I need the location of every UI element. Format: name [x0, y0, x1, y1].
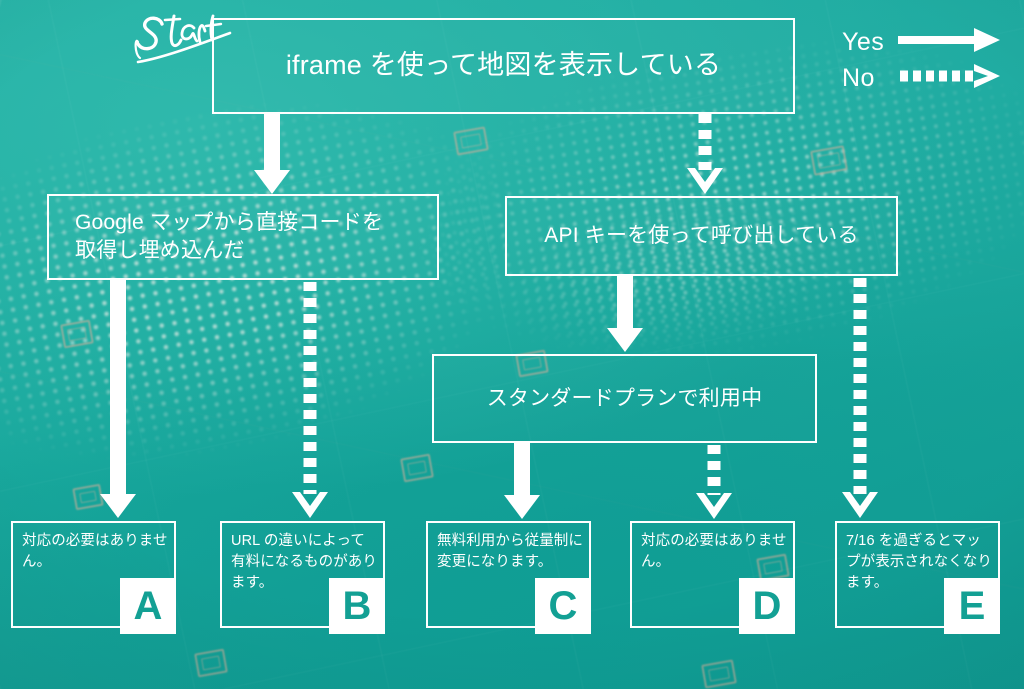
answer-badge-a: A — [120, 578, 176, 634]
legend: Yes No — [842, 24, 1014, 96]
node-start-question[interactable]: iframe を使って地図を表示している — [212, 18, 795, 114]
answer-box-d[interactable]: 対応の必要はありません。 D — [630, 521, 795, 628]
answer-badge-e: E — [944, 578, 1000, 634]
answer-box-b[interactable]: URL の違いによって有料になるものがあります。 B — [220, 521, 385, 628]
legend-row-yes: Yes — [842, 24, 1014, 60]
dashed-arrow-right-icon — [896, 61, 1006, 96]
background-chip — [701, 659, 737, 688]
node-google-embed-label-line2: 取得し埋め込んだ — [75, 239, 245, 262]
answer-badge-d: D — [739, 578, 795, 634]
edge-standard-to-c-yes — [500, 443, 544, 523]
legend-row-no: No — [842, 60, 1014, 96]
solid-arrow-right-icon — [896, 25, 1006, 60]
background-chip — [72, 484, 103, 511]
node-google-embed[interactable]: Google マップから直接コードを 取得し埋め込んだ — [47, 194, 439, 280]
answer-badge-b: B — [329, 578, 385, 634]
node-standard-plan[interactable]: スタンダードプランで利用中 — [432, 354, 817, 443]
node-api-key[interactable]: API キーを使って呼び出している — [505, 196, 898, 276]
node-api-key-label: API キーを使って呼び出している — [507, 222, 896, 250]
flowchart-canvas: Yes No iframe を使って地図を表示している Google マップから… — [0, 0, 1024, 689]
node-standard-plan-label: スタンダードプランで利用中 — [434, 385, 815, 413]
background-chip — [194, 649, 228, 678]
answer-badge-c: C — [535, 578, 591, 634]
edge-standard-to-d-no — [692, 443, 736, 523]
answer-text-d: 対応の必要はありません。 — [641, 531, 787, 573]
node-start-question-label: iframe を使って地図を表示している — [214, 48, 793, 84]
answer-box-e[interactable]: 7/16 を過ぎるとマップが表示されなくなります。 E — [835, 521, 1000, 628]
legend-label-yes: Yes — [842, 28, 896, 57]
answer-text-c: 無料利用から従量制に変更になります。 — [437, 531, 583, 573]
node-google-embed-label-line1: Google マップから直接コードを — [75, 211, 383, 234]
answer-box-c[interactable]: 無料利用から従量制に変更になります。 C — [426, 521, 591, 628]
background-chip — [60, 320, 94, 349]
answer-box-a[interactable]: 対応の必要はありません。 A — [11, 521, 176, 628]
answer-text-a: 対応の必要はありません。 — [22, 531, 168, 573]
legend-label-no: No — [842, 64, 896, 93]
background-chip — [400, 454, 434, 483]
